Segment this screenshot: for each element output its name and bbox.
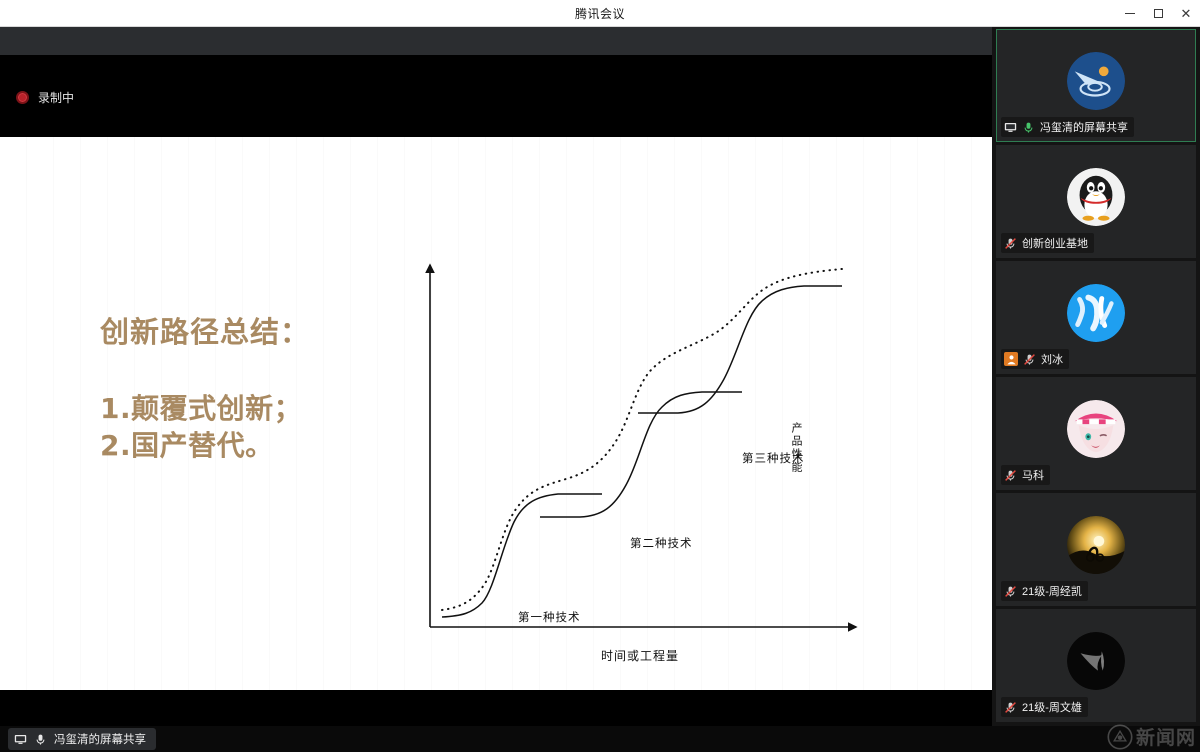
- chart-series-tech3: [638, 286, 842, 413]
- avatar: [1067, 516, 1125, 574]
- share-status-label: 冯玺清的屏幕共享: [54, 731, 146, 747]
- participant-tile-3[interactable]: 刘冰: [996, 261, 1196, 374]
- sunset-photo-avatar-icon: [1067, 516, 1125, 574]
- microphone-muted-icon: [1004, 469, 1017, 482]
- participant-name: 21级-周文雄: [1022, 699, 1082, 715]
- participant-tag: 刘冰: [1001, 349, 1069, 369]
- slide-bullet-1: 1.颠覆式创新；: [100, 391, 400, 428]
- minimize-button[interactable]: [1116, 0, 1144, 27]
- stage-letterbox-top: [0, 55, 992, 137]
- chart-series-tech2: [540, 392, 742, 517]
- minimize-icon: [1125, 13, 1135, 14]
- host-badge-icon: [1004, 352, 1018, 366]
- rocket-logo-avatar-icon: [1067, 52, 1125, 110]
- chart-svg: [390, 217, 890, 637]
- participant-tag: 21级-周经凯: [1001, 581, 1088, 601]
- shared-screen-stage[interactable]: 录制中 创新路径总结： 1.颠覆式创新； 2.国产替代。 产品性能 时间或工程量…: [0, 27, 992, 726]
- slide-heading: 创新路径总结：: [100, 317, 400, 349]
- participant-tag: 马科: [1001, 465, 1050, 485]
- participant-name: 马科: [1022, 467, 1044, 483]
- slide-bullet-list: 1.颠覆式创新； 2.国产替代。: [100, 391, 400, 465]
- participant-tile-4[interactable]: 马科: [996, 377, 1196, 490]
- chart-series-tech1: [442, 494, 602, 617]
- close-icon: ✕: [1181, 7, 1192, 20]
- title-bar: 腾讯会议 ✕: [0, 0, 1200, 27]
- maximize-button[interactable]: [1144, 0, 1172, 27]
- monitor-icon: [1004, 121, 1017, 134]
- participant-name: 冯玺清的屏幕共享: [1040, 119, 1128, 135]
- technology-s-curve-chart: 产品性能 时间或工程量 第一种技术 第二种技术 第三种技术: [390, 217, 890, 637]
- window-controls: ✕: [1116, 0, 1200, 27]
- recording-dot-icon: [16, 91, 29, 104]
- bottom-share-bar: 冯玺清的屏幕共享: [0, 726, 1200, 752]
- chart-annotation-tech1: 第一种技术: [518, 609, 581, 625]
- participant-rail[interactable]: 冯玺清的屏幕共享: [992, 27, 1200, 726]
- monitor-icon: [14, 733, 27, 746]
- recording-label: 录制中: [38, 89, 74, 106]
- avatar: [1067, 52, 1125, 110]
- chart-annotation-tech2: 第二种技术: [630, 535, 693, 551]
- participant-tile-2[interactable]: 创新创业基地: [996, 145, 1196, 258]
- recording-indicator: 录制中: [16, 89, 74, 106]
- person-icon: [1006, 354, 1017, 365]
- participant-name: 创新创业基地: [1022, 235, 1088, 251]
- share-status-pill[interactable]: 冯玺清的屏幕共享: [8, 728, 156, 750]
- chart-y-axis-label: 产品性能: [788, 422, 804, 474]
- avatar: [1067, 284, 1125, 342]
- maximize-icon: [1154, 9, 1163, 18]
- anime-girl-avatar-icon: [1067, 400, 1125, 458]
- blue-water-avatar-icon: [1067, 284, 1125, 342]
- avatar: [1067, 168, 1125, 226]
- avatar: [1067, 632, 1125, 690]
- microphone-on-icon: [1022, 121, 1035, 134]
- stage-letterbox-bottom: [0, 690, 992, 726]
- tencent-meeting-window: 腾讯会议 ✕ 录制中 创新路径总结： 1.颠覆式创新； 2.国产替代。: [0, 0, 1200, 752]
- microphone-muted-icon: [1004, 585, 1017, 598]
- slide-bullet-2: 2.国产替代。: [100, 428, 400, 465]
- avatar: [1067, 400, 1125, 458]
- microphone-icon: [34, 733, 47, 746]
- chart-annotation-tech3: 第三种技术: [742, 450, 805, 466]
- chart-series-envelope: [442, 269, 842, 610]
- microphone-muted-icon: [1004, 237, 1017, 250]
- participant-tile-6[interactable]: 21级-周文雄: [996, 609, 1196, 722]
- participant-name: 刘冰: [1041, 351, 1063, 367]
- participant-tile-5[interactable]: 21级-周经凯: [996, 493, 1196, 606]
- slide-text-block: 创新路径总结： 1.颠覆式创新； 2.国产替代。: [100, 317, 400, 465]
- qq-penguin-avatar-icon: [1067, 168, 1125, 226]
- participant-tag: 21级-周文雄: [1001, 697, 1088, 717]
- participant-tag: 冯玺清的屏幕共享: [1001, 117, 1134, 137]
- participant-tile-screenshare[interactable]: 冯玺清的屏幕共享: [996, 29, 1196, 142]
- stage-top-strip: [0, 27, 992, 55]
- microphone-muted-icon: [1023, 353, 1036, 366]
- presentation-slide: 创新路径总结： 1.颠覆式创新； 2.国产替代。 产品性能 时间或工程量 第一种…: [0, 137, 992, 690]
- window-title: 腾讯会议: [575, 5, 625, 22]
- participant-name: 21级-周经凯: [1022, 583, 1082, 599]
- dark-photo-avatar-icon: [1067, 632, 1125, 690]
- chart-x-axis-label: 时间或工程量: [390, 647, 890, 664]
- microphone-muted-icon: [1004, 701, 1017, 714]
- close-button[interactable]: ✕: [1172, 0, 1200, 27]
- participant-tag: 创新创业基地: [1001, 233, 1094, 253]
